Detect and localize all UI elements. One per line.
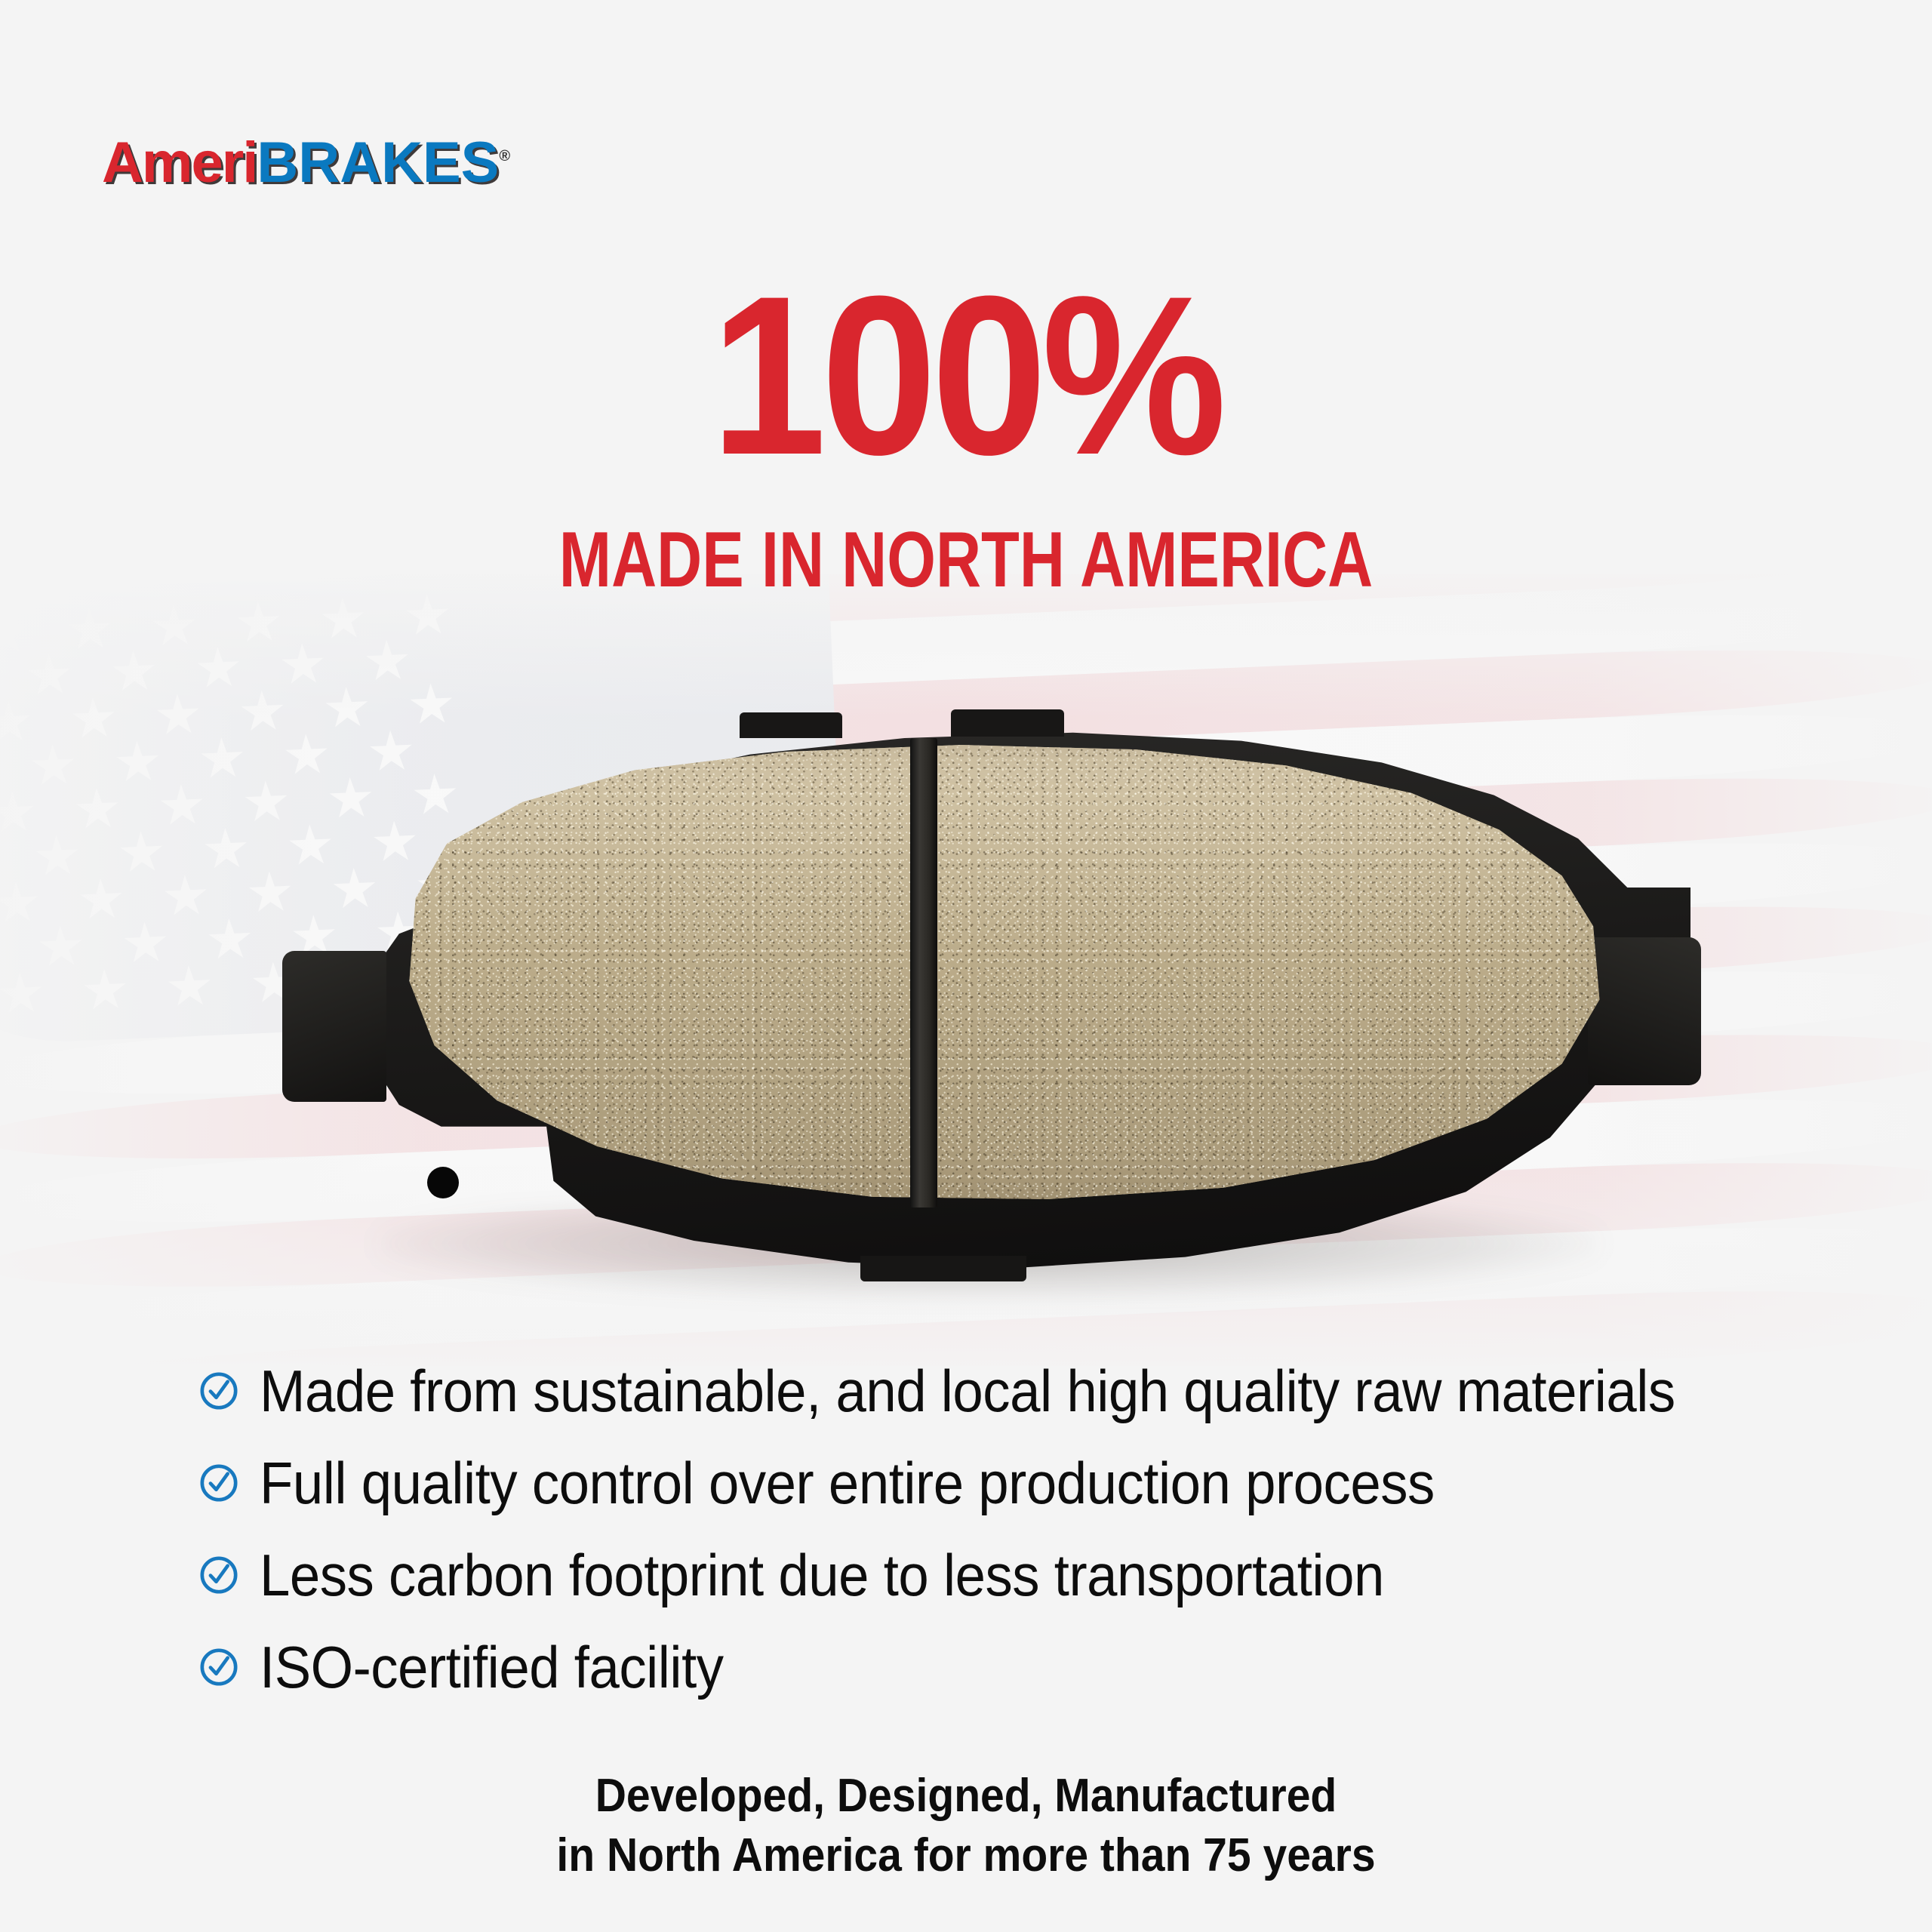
flag-star	[26, 653, 72, 698]
flag-star	[75, 787, 120, 832]
flag-star	[0, 700, 32, 746]
flag-star	[240, 690, 285, 735]
benefits-list: Made from sustainable, and local high qu…	[198, 1345, 1783, 1713]
flag-star	[409, 682, 454, 728]
flag-star	[38, 924, 84, 970]
benefit-label: Less carbon footprint due to less transp…	[260, 1546, 1384, 1604]
flag-star	[78, 878, 124, 923]
flag-star	[0, 971, 43, 1017]
check-circle-icon	[198, 1462, 240, 1504]
pad-center-slot	[910, 738, 937, 1207]
flag-star	[30, 743, 75, 789]
flag-star	[195, 646, 241, 691]
pad-ear-left	[282, 951, 386, 1102]
flag-star	[207, 918, 252, 963]
pad-tab-top-right	[951, 709, 1064, 737]
flag-star	[159, 783, 205, 829]
list-item: Less carbon footprint due to less transp…	[198, 1529, 1783, 1621]
check-circle-icon	[198, 1370, 240, 1412]
logo-text-brakes: BRAKES	[257, 131, 499, 195]
flag-star	[167, 964, 212, 1010]
flag-star	[155, 693, 201, 738]
pad-friction-material	[359, 743, 1612, 1201]
flag-star	[236, 601, 281, 646]
brake-pad-product-image	[287, 724, 1690, 1268]
pad-mounting-hole	[427, 1167, 459, 1198]
flag-star	[244, 780, 289, 825]
hero-subtitle: MADE IN NORTH AMERICA	[193, 521, 1739, 599]
check-circle-icon	[198, 1646, 240, 1688]
list-item: ISO-certified facility	[198, 1621, 1783, 1713]
flag-star	[0, 881, 39, 926]
promo-graphic: AmeriBRAKES® 100% MADE IN NORTH AMERICA …	[0, 0, 1932, 1932]
benefit-label: Full quality control over entire product…	[260, 1454, 1435, 1512]
benefit-label: Made from sustainable, and local high qu…	[260, 1361, 1675, 1420]
footer-line-2: in North America for more than 75 years	[77, 1826, 1854, 1885]
flag-star	[321, 597, 366, 642]
check-circle-icon	[198, 1554, 240, 1596]
benefit-label: ISO-certified facility	[260, 1638, 724, 1697]
flag-star	[0, 611, 28, 657]
flag-star	[115, 740, 160, 786]
flag-star	[122, 921, 168, 966]
flag-star	[71, 697, 116, 742]
pad-ear-right	[1588, 937, 1701, 1085]
list-item: Full quality control over entire product…	[198, 1437, 1783, 1529]
footer-tagline: Developed, Designed, Manufactured in Nor…	[0, 1766, 1932, 1886]
registered-trademark-icon: ®	[499, 148, 510, 165]
flag-star	[280, 642, 325, 688]
flag-star	[152, 604, 197, 649]
flag-star	[34, 834, 79, 879]
footer-line-1: Developed, Designed, Manufactured	[77, 1766, 1854, 1826]
flag-star	[365, 639, 410, 685]
list-item: Made from sustainable, and local high qu…	[198, 1345, 1783, 1437]
flag-star	[163, 874, 208, 919]
flag-star	[203, 827, 248, 872]
flag-star	[67, 608, 112, 653]
pad-tab-bottom	[860, 1256, 1026, 1281]
brand-logo[interactable]: AmeriBRAKES®	[102, 134, 510, 192]
flag-star	[405, 593, 451, 638]
logo-text-ameri: Ameri	[102, 131, 257, 195]
hero-percent: 100%	[77, 268, 1854, 483]
flag-star	[111, 650, 156, 695]
flag-star	[199, 737, 245, 782]
flag-star	[82, 968, 128, 1014]
pad-tab-top-left	[740, 712, 842, 738]
flag-star	[118, 830, 164, 875]
flag-star	[0, 791, 35, 836]
